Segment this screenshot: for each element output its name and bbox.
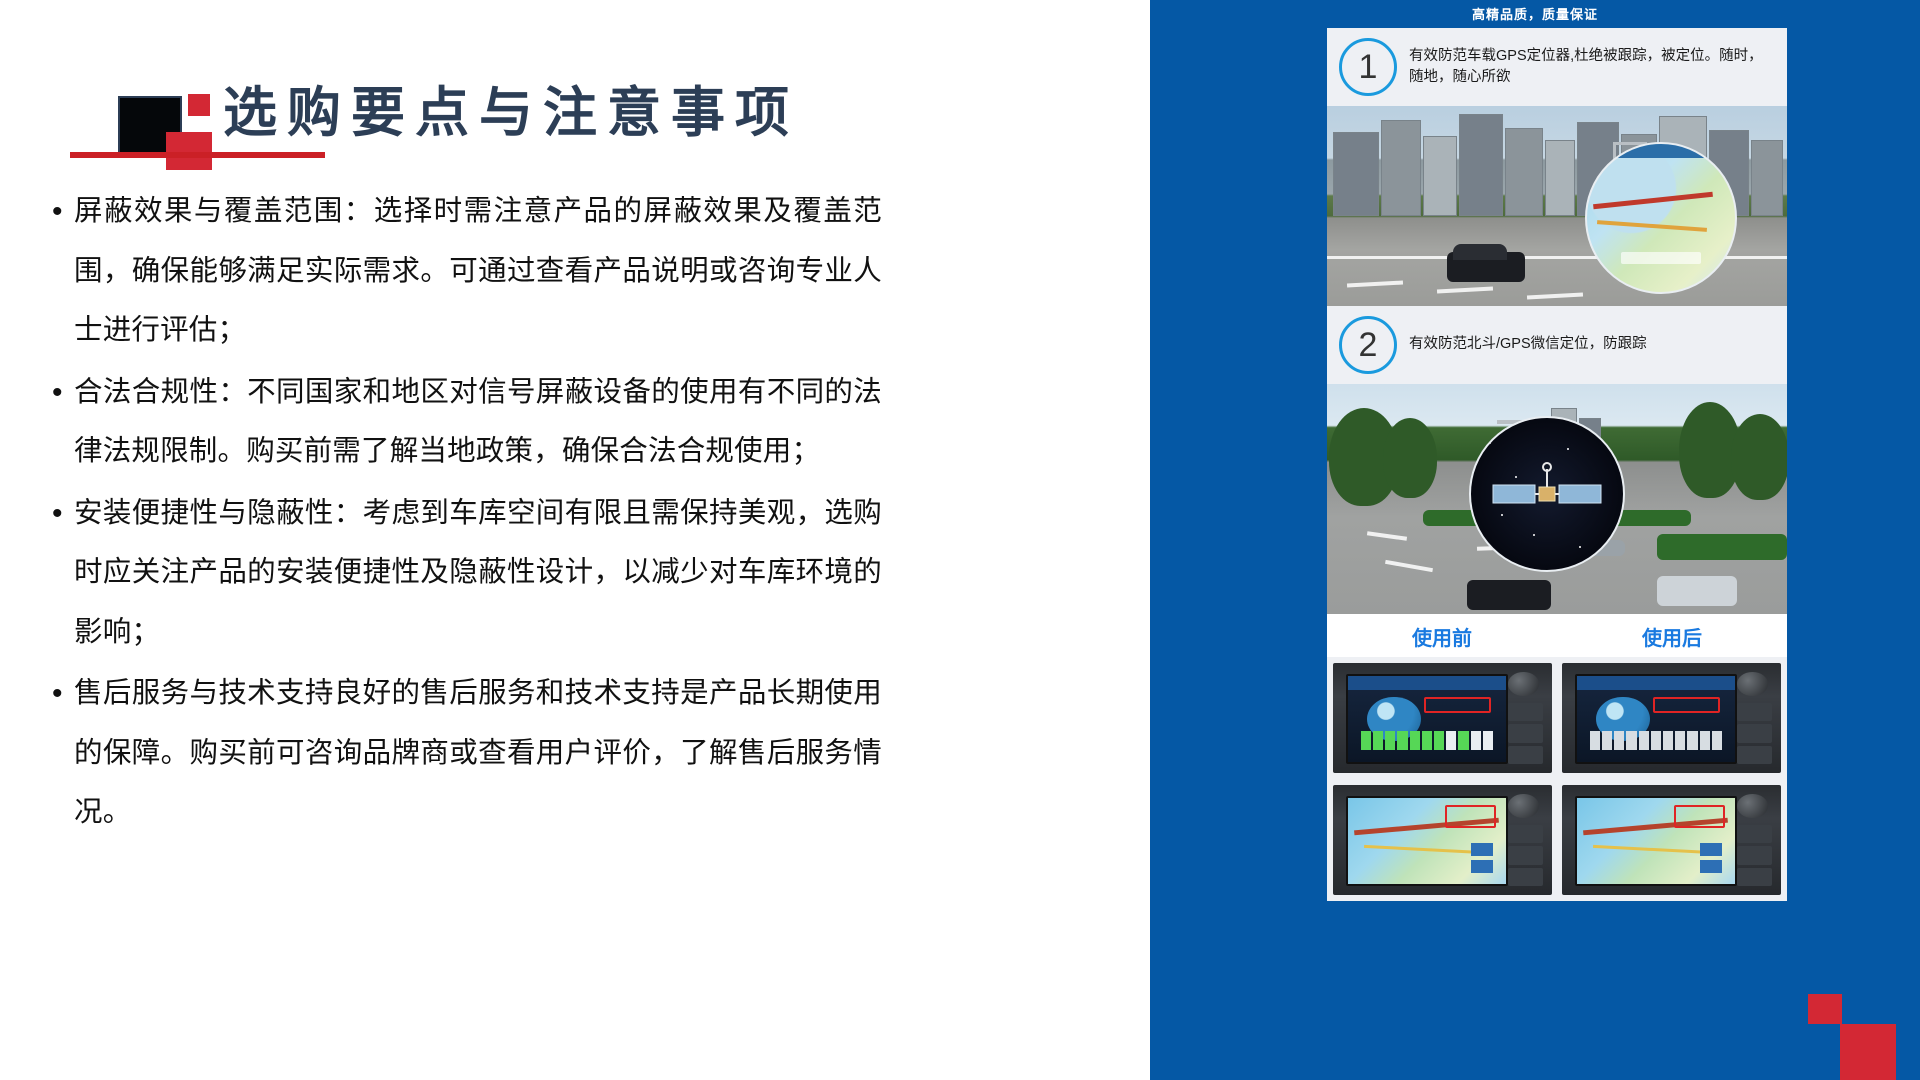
gps-map-lens-overlay — [1585, 142, 1737, 294]
right-blue-panel: 高精品质，质量保证 1 有效防范车载GPS定位器,杜绝被跟踪，被定位。随时，随地… — [1150, 0, 1920, 1080]
bullet-text: 合法合规性：不同国家和地区对信号屏蔽设备的使用有不同的法律法规限制。购买前需了解… — [74, 363, 882, 482]
title-underline — [70, 152, 325, 158]
bullet-marker-icon: • — [52, 363, 74, 422]
satellite-icon — [1487, 459, 1607, 529]
corner-red-square-large — [1840, 1024, 1896, 1080]
bullet-text: 安装便捷性与隐蔽性：考虑到车库空间有限且需保持美观，选购时应关注产品的安装便捷性… — [74, 484, 882, 663]
corner-red-square-small — [1808, 994, 1842, 1024]
note-text: 有效防范车载GPS定位器,杜绝被跟踪，被定位。随时，随地，随心所欲 — [1409, 46, 1773, 88]
gps-signal-screen-after — [1562, 663, 1781, 773]
note-text: 有效防范北斗/GPS微信定位，防跟踪 — [1409, 334, 1773, 355]
product-image-column: 1 有效防范车载GPS定位器,杜绝被跟踪，被定位。随时，随地，随心所欲 — [1327, 28, 1787, 901]
screenshot-row-gps — [1327, 657, 1787, 779]
note-item-2: 2 有效防范北斗/GPS微信定位，防跟踪 — [1327, 306, 1787, 384]
bullet-marker-icon: • — [52, 664, 74, 723]
corner-decoration — [1780, 980, 1880, 1080]
screenshot-row-map — [1327, 779, 1787, 901]
left-content-pane: 选购要点与注意事项 • 屏蔽效果与覆盖范围：选择时需注意产品的屏蔽效果及覆盖范围… — [0, 0, 1150, 1080]
label-before: 使用前 — [1327, 622, 1557, 651]
bullet-marker-icon: • — [52, 484, 74, 543]
brand-tagline: 高精品质，质量保证 — [1150, 4, 1920, 23]
decoration-red-square-large — [166, 132, 212, 170]
decoration-red-square-small — [188, 94, 210, 116]
list-item: • 屏蔽效果与覆盖范围：选择时需注意产品的屏蔽效果及覆盖范围，确保能够满足实际需… — [52, 182, 882, 361]
navigation-map-screen-after — [1562, 785, 1781, 895]
note-item-1: 1 有效防范车载GPS定位器,杜绝被跟踪，被定位。随时，随地，随心所欲 — [1327, 28, 1787, 106]
note-number-badge: 2 — [1339, 316, 1397, 374]
note-number-badge: 1 — [1339, 38, 1397, 96]
before-after-labels: 使用前 使用后 — [1327, 614, 1787, 657]
bullet-marker-icon: • — [52, 182, 74, 241]
bullet-text: 屏蔽效果与覆盖范围：选择时需注意产品的屏蔽效果及覆盖范围，确保能够满足实际需求。… — [74, 182, 882, 361]
photo-city-street — [1327, 106, 1787, 306]
gps-signal-screen-before — [1333, 663, 1552, 773]
navigation-map-screen-before — [1333, 785, 1552, 895]
label-after: 使用后 — [1557, 622, 1787, 651]
list-item: • 安装便捷性与隐蔽性：考虑到车库空间有限且需保持美观，选购时应关注产品的安装便… — [52, 484, 882, 663]
bullet-text: 售后服务与技术支持良好的售后服务和技术支持是产品长期使用的保障。购买前可咨询品牌… — [74, 664, 882, 843]
list-item: • 售后服务与技术支持良好的售后服务和技术支持是产品长期使用的保障。购买前可咨询… — [52, 664, 882, 843]
page-title: 选购要点与注意事项 — [223, 82, 799, 144]
satellite-lens-overlay — [1469, 416, 1625, 572]
slide-root: 选购要点与注意事项 • 屏蔽效果与覆盖范围：选择时需注意产品的屏蔽效果及覆盖范围… — [0, 0, 1920, 1080]
list-item: • 合法合规性：不同国家和地区对信号屏蔽设备的使用有不同的法律法规限制。购买前需… — [52, 363, 882, 482]
bullet-list: • 屏蔽效果与覆盖范围：选择时需注意产品的屏蔽效果及覆盖范围，确保能够满足实际需… — [52, 182, 882, 845]
title-decoration-icon — [118, 84, 194, 160]
photo-boulevard — [1327, 384, 1787, 614]
